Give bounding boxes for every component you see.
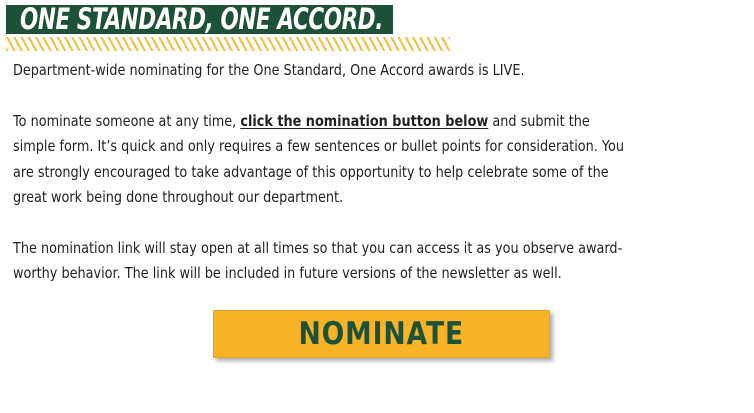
nominate-button-container: NOMINATE — [213, 310, 550, 358]
nominate-button[interactable]: NOMINATE — [213, 310, 550, 358]
nominate-button-label: NOMINATE — [299, 312, 465, 356]
header-banner: ONE STANDARD, ONE ACCORD. — [6, 5, 393, 34]
body-copy: Department-wide nominating for the One S… — [13, 58, 634, 287]
paragraph-link-availability: The nomination link will stay open at al… — [13, 236, 634, 287]
page-title: ONE STANDARD, ONE ACCORD. — [20, 5, 383, 34]
paragraph-instructions: To nominate someone at any time, click t… — [13, 109, 634, 211]
newsletter-announcement-panel: ONE STANDARD, ONE ACCORD. Department-wid… — [0, 0, 754, 413]
paragraph-announcement: Department-wide nominating for the One S… — [13, 58, 634, 84]
instructions-text-before-link: To nominate someone at any time, — [13, 112, 240, 130]
nomination-button-link[interactable]: click the nomination button below — [240, 112, 488, 130]
hatched-divider-stripe — [6, 37, 450, 51]
